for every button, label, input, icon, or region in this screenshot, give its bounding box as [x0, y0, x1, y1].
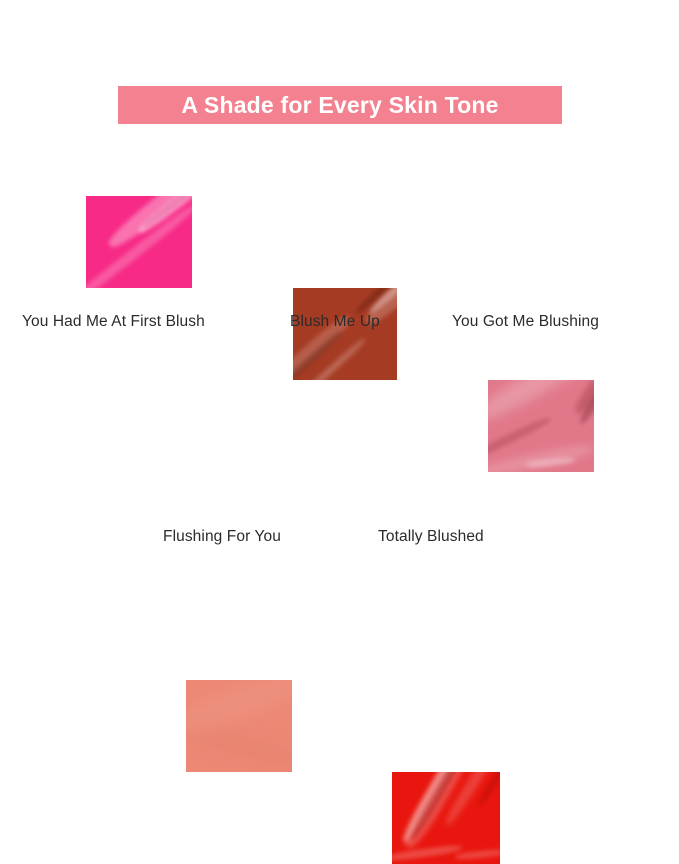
banner: A Shade for Every Skin Tone [118, 86, 562, 124]
gloss-overlay-4 [186, 680, 292, 772]
shade-label-totally-blushed: Totally Blushed [378, 528, 484, 546]
gloss-overlay-2 [293, 288, 397, 380]
shade-swatch-totally-blushed[interactable] [392, 772, 500, 864]
shade-chart-page: A Shade for Every Skin Tone You Had Me A… [0, 0, 679, 679]
shade-swatch-you-had-me-at-first-blush[interactable] [86, 196, 192, 288]
shade-label-you-had-me-at-first-blush: You Had Me At First Blush [22, 313, 205, 331]
shade-swatch-you-got-me-blushing[interactable] [488, 380, 594, 472]
shade-label-blush-me-up: Blush Me Up [290, 313, 380, 331]
shade-swatch-flushing-for-you[interactable] [186, 680, 292, 772]
page-title: A Shade for Every Skin Tone [181, 94, 498, 117]
shade-swatch-blush-me-up[interactable] [293, 288, 397, 380]
shade-label-flushing-for-you: Flushing For You [163, 528, 281, 546]
gloss-overlay-5 [392, 772, 500, 864]
gloss-overlay-1 [86, 196, 192, 288]
gloss-overlay-3 [488, 380, 594, 472]
shade-label-you-got-me-blushing: You Got Me Blushing [452, 313, 599, 331]
